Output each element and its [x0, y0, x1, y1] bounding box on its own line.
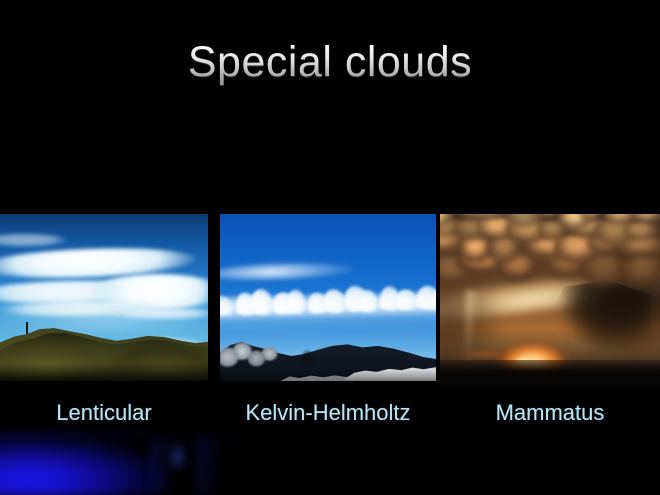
image-panel-lenticular[interactable]	[0, 214, 208, 381]
slide: Special clouds	[0, 0, 660, 495]
image-panel-kelvin-helmholtz[interactable]	[220, 214, 436, 381]
lenticular-photo	[0, 214, 208, 381]
rock-outcrop	[220, 338, 285, 371]
caption-mammatus: Mammatus	[440, 400, 660, 426]
bush	[298, 341, 317, 368]
caption-kelvin-helmholtz: Kelvin-Helmholtz	[220, 400, 436, 426]
page-title: Special clouds	[0, 38, 660, 86]
haze-layer	[220, 305, 436, 333]
bottom-vignette	[220, 369, 436, 381]
caption-lenticular: Lenticular	[0, 400, 208, 426]
mammatus-photo	[440, 214, 660, 388]
blue-glow-streak	[196, 438, 242, 494]
lenticular-cloud-lobe	[0, 234, 67, 246]
kelvin-helmholtz-photo	[220, 214, 436, 381]
image-panel-mammatus[interactable]	[440, 214, 660, 388]
hill-pole	[26, 322, 28, 334]
horizon-layer	[440, 360, 660, 388]
lenticular-cloud-lobe	[108, 308, 208, 320]
bottom-vignette	[0, 363, 208, 381]
